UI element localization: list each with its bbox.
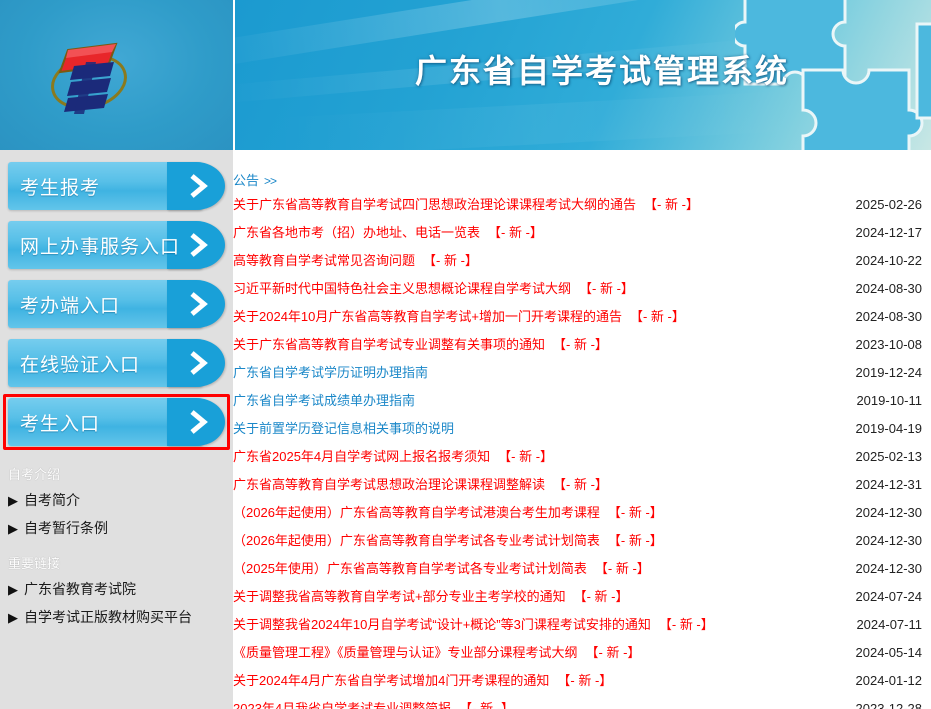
new-badge: 【- 新 -】	[423, 253, 478, 268]
new-badge: 【- 新 -】	[586, 645, 641, 660]
notice-date: 2024-12-17	[842, 225, 923, 240]
header-banner: 广东省自学考试管理系统	[235, 0, 931, 150]
notice-title[interactable]: 关于2024年4月广东省自学考试增加4门开考课程的通知【- 新 -】	[233, 670, 612, 689]
notice-date: 2024-01-12	[842, 673, 923, 688]
notice-row[interactable]: 广东省自学考试成绩单办理指南2019-10-11	[233, 390, 931, 418]
notice-date: 2025-02-13	[842, 449, 923, 464]
page-title: 广东省自学考试管理系统	[415, 46, 789, 92]
notice-row[interactable]: 关于广东省高等教育自学考试专业调整有关事项的通知【- 新 -】2023-10-0…	[233, 334, 931, 362]
sidebar-item-label: 考办端入口	[8, 291, 120, 318]
notice-title[interactable]: 高等教育自学考试常见咨询问题【- 新 -】	[233, 250, 478, 269]
page-root: 广东省自学考试管理系统 考生报考 网上办事服务入口 考办端入口 在线验证入口	[0, 0, 931, 709]
sidebar-section-title-links: 重要链接	[8, 553, 233, 572]
notice-title[interactable]: 关于2024年10月广东省高等教育自学考试+增加一门开考课程的通告【- 新 -】	[233, 306, 685, 325]
notice-date: 2025-02-26	[842, 197, 923, 212]
sidebar-section-title-intro: 自考介绍	[8, 464, 233, 483]
triangle-right-icon: ▶	[8, 494, 18, 507]
notice-date: 2024-05-14	[842, 645, 923, 660]
sidebar-link-zikao-intro[interactable]: ▶ 自考简介	[8, 489, 233, 511]
puzzle-piece-icon	[907, 14, 931, 124]
notice-row[interactable]: 关于2024年10月广东省高等教育自学考试+增加一门开考课程的通告【- 新 -】…	[233, 306, 931, 334]
notice-title[interactable]: 广东省高等教育自学考试思想政治理论课课程调整解读【- 新 -】	[233, 474, 608, 493]
triangle-right-icon: ▶	[8, 583, 18, 596]
new-badge: 【- 新 -】	[574, 589, 629, 604]
sidebar-link-label: 自学考试正版教材购买平台	[24, 607, 192, 627]
notice-title[interactable]: 广东省各地市考（招）办地址、电话一览表【- 新 -】	[233, 222, 543, 241]
chevron-right-icon[interactable]	[167, 162, 225, 210]
new-badge: 【- 新 -】	[608, 505, 663, 520]
notice-date: 2019-10-11	[842, 393, 922, 408]
new-badge: 【- 新 -】	[557, 673, 612, 688]
notice-title[interactable]: 2023年4月我省自学考试专业调整简报【- 新 -】	[233, 698, 514, 709]
notice-date: 2024-12-30	[842, 561, 923, 576]
notice-row[interactable]: 关于调整我省高等教育自学考试+部分专业主考学校的通知【- 新 -】2024-07…	[233, 586, 931, 614]
sidebar-item-candidate-entry[interactable]: 考生入口	[8, 398, 203, 446]
notice-title[interactable]: 关于调整我省高等教育自学考试+部分专业主考学校的通知【- 新 -】	[233, 586, 628, 605]
notice-date: 2019-12-24	[842, 365, 923, 380]
notice-row[interactable]: 广东省高等教育自学考试思想政治理论课课程调整解读【- 新 -】2024-12-3…	[233, 474, 931, 502]
notice-row[interactable]: 关于2024年4月广东省自学考试增加4门开考课程的通知【- 新 -】2024-0…	[233, 670, 931, 698]
chevron-right-icon[interactable]	[167, 339, 225, 387]
triangle-right-icon: ▶	[8, 522, 18, 535]
notice-title[interactable]: 关于广东省高等教育自学考试专业调整有关事项的通知【- 新 -】	[233, 334, 608, 353]
notice-date: 2019-04-19	[842, 421, 923, 436]
notice-title[interactable]: 关于前置学历登记信息相关事项的说明	[233, 418, 454, 437]
notice-row[interactable]: （2025年使用）广东省高等教育自学考试各专业考试计划简表【- 新 -】2024…	[233, 558, 931, 586]
sidebar-item-kaosheng-baokao[interactable]: 考生报考	[8, 162, 203, 210]
notice-row[interactable]: 广东省2025年4月自学考试网上报名报考须知【- 新 -】2025-02-13	[233, 446, 931, 474]
new-badge: 【- 新 -】	[644, 197, 699, 212]
notice-title[interactable]: 习近平新时代中国特色社会主义思想概论课程自学考试大纲【- 新 -】	[233, 278, 634, 297]
new-badge: 【- 新 -】	[553, 477, 608, 492]
notice-title[interactable]: 广东省自学考试成绩单办理指南	[233, 390, 415, 409]
notice-date: 2024-12-31	[842, 477, 923, 492]
new-badge: 【- 新 -】	[630, 309, 685, 324]
notice-row[interactable]: 广东省各地市考（招）办地址、电话一览表【- 新 -】2024-12-17	[233, 222, 931, 250]
notice-row[interactable]: （2026年起使用）广东省高等教育自学考试各专业考试计划简表【- 新 -】202…	[233, 530, 931, 558]
sidebar-item-online-verify-entry[interactable]: 在线验证入口	[8, 339, 203, 387]
new-badge: 【- 新 -】	[608, 533, 663, 548]
sidebar-link-label: 广东省教育考试院	[24, 579, 136, 599]
notice-row[interactable]: 习近平新时代中国特色社会主义思想概论课程自学考试大纲【- 新 -】2024-08…	[233, 278, 931, 306]
notice-section-header[interactable]: 公告 >>	[233, 170, 276, 189]
notice-title[interactable]: 广东省自学考试学历证明办理指南	[233, 362, 428, 381]
notice-date: 2024-10-22	[842, 253, 923, 268]
sidebar-item-label: 网上办事服务入口	[8, 232, 180, 259]
double-chevron-right-icon: >>	[264, 174, 276, 188]
notice-date: 2024-12-30	[842, 533, 923, 548]
notice-row[interactable]: 关于前置学历登记信息相关事项的说明2019-04-19	[233, 418, 931, 446]
notice-date: 2024-08-30	[842, 281, 923, 296]
sidebar-item-label: 在线验证入口	[8, 350, 140, 377]
notice-date: 2023-12-28	[842, 701, 923, 709]
notice-row[interactable]: 高等教育自学考试常见咨询问题【- 新 -】2024-10-22	[233, 250, 931, 278]
notice-header-label: 公告	[233, 170, 259, 189]
notice-date: 2024-07-11	[842, 617, 922, 632]
notice-title[interactable]: 关于调整我省2024年10月自学考试“设计+概论”等3门课程考试安排的通知【- …	[233, 614, 714, 633]
notice-row[interactable]: 《质量管理工程》《质量管理与认证》专业部分课程考试大纲【- 新 -】2024-0…	[233, 642, 931, 670]
notice-title[interactable]: 广东省2025年4月自学考试网上报名报考须知【- 新 -】	[233, 446, 553, 465]
notice-date: 2024-07-24	[842, 589, 923, 604]
sidebar-item-label: 考生入口	[8, 409, 100, 436]
notice-title[interactable]: （2026年起使用）广东省高等教育自学考试各专业考试计划简表【- 新 -】	[233, 530, 663, 549]
notice-date: 2023-10-08	[842, 337, 923, 352]
gdeea-logo-icon	[34, 22, 144, 132]
notice-row[interactable]: 广东省自学考试学历证明办理指南2019-12-24	[233, 362, 931, 390]
notice-title[interactable]: （2026年起使用）广东省高等教育自学考试港澳台考生加考课程【- 新 -】	[233, 502, 663, 521]
new-badge: 【- 新 -】	[459, 701, 514, 709]
logo-panel	[0, 0, 233, 150]
triangle-right-icon: ▶	[8, 611, 18, 624]
notice-list: 关于广东省高等教育自学考试四门思想政治理论课课程考试大纲的通告【- 新 -】20…	[233, 194, 931, 709]
sidebar-link-label: 自考简介	[24, 490, 80, 510]
new-badge: 【- 新 -】	[579, 281, 634, 296]
sidebar-link-label: 自考暂行条例	[24, 518, 108, 538]
notice-row[interactable]: 关于广东省高等教育自学考试四门思想政治理论课课程考试大纲的通告【- 新 -】20…	[233, 194, 931, 222]
sidebar-link-gdeea[interactable]: ▶ 广东省教育考试院	[8, 578, 233, 600]
sidebar-link-textbook-platform[interactable]: ▶ 自学考试正版教材购买平台	[8, 606, 233, 628]
sidebar: 考生报考 网上办事服务入口 考办端入口 在线验证入口 考生入口	[0, 150, 233, 709]
notice-title[interactable]: 关于广东省高等教育自学考试四门思想政治理论课课程考试大纲的通告【- 新 -】	[233, 194, 699, 213]
site-header: 广东省自学考试管理系统	[0, 0, 931, 150]
sidebar-link-interim-regulations[interactable]: ▶ 自考暂行条例	[8, 517, 233, 539]
chevron-right-icon[interactable]	[167, 280, 225, 328]
sidebar-item-kaoban-entry[interactable]: 考办端入口	[8, 280, 203, 328]
main-content: 公告 >> 关于广东省高等教育自学考试四门思想政治理论课课程考试大纲的通告【- …	[233, 150, 931, 709]
new-badge: 【- 新 -】	[498, 449, 553, 464]
notice-date: 2024-08-30	[842, 309, 923, 324]
notice-title[interactable]: （2025年使用）广东省高等教育自学考试各专业考试计划简表【- 新 -】	[233, 558, 650, 577]
new-badge: 【- 新 -】	[659, 617, 714, 632]
sidebar-item-online-service-entry[interactable]: 网上办事服务入口	[8, 221, 203, 269]
chevron-right-icon[interactable]	[167, 398, 225, 446]
banner-light-streak	[274, 91, 795, 150]
notice-date: 2024-12-30	[842, 505, 923, 520]
notice-row[interactable]: 关于调整我省2024年10月自学考试“设计+概论”等3门课程考试安排的通知【- …	[233, 614, 931, 642]
notice-row[interactable]: 2023年4月我省自学考试专业调整简报【- 新 -】2023-12-28	[233, 698, 931, 709]
sidebar-item-label: 考生报考	[8, 173, 100, 200]
notice-row[interactable]: （2026年起使用）广东省高等教育自学考试港澳台考生加考课程【- 新 -】202…	[233, 502, 931, 530]
new-badge: 【- 新 -】	[488, 225, 543, 240]
new-badge: 【- 新 -】	[595, 561, 650, 576]
notice-title[interactable]: 《质量管理工程》《质量管理与认证》专业部分课程考试大纲【- 新 -】	[233, 642, 640, 661]
new-badge: 【- 新 -】	[553, 337, 608, 352]
